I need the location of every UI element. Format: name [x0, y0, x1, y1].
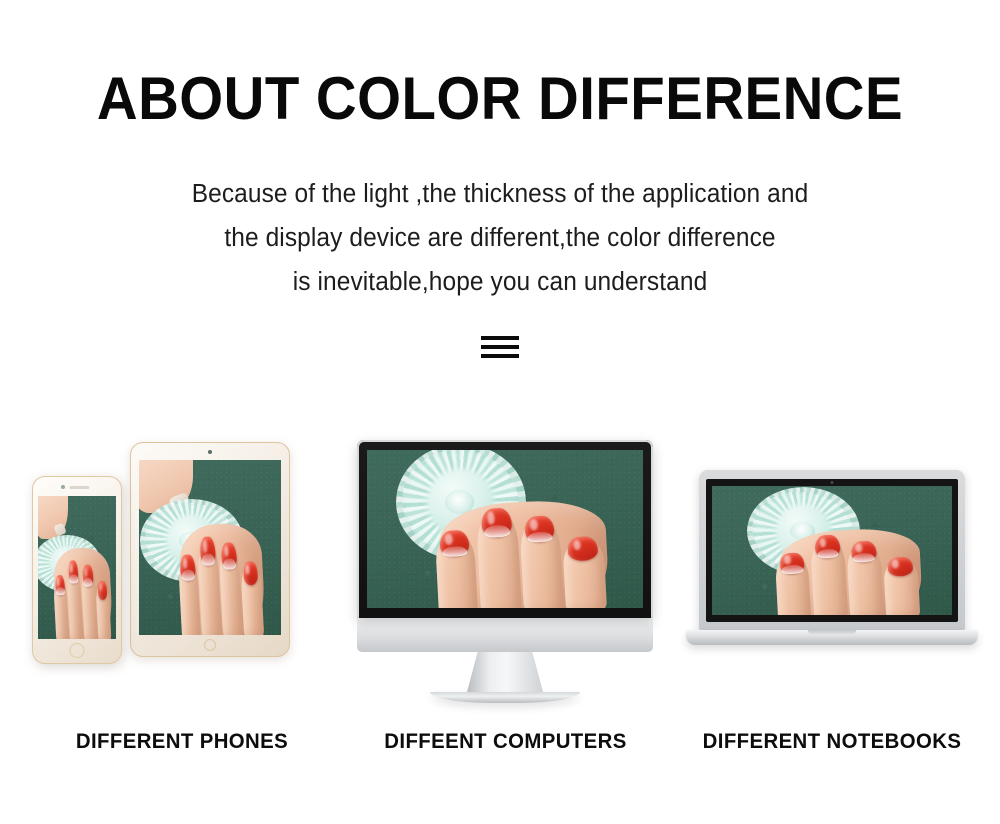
- phone-speaker-icon: [69, 486, 89, 489]
- fingernail: [68, 561, 79, 585]
- three-bars-icon: [0, 336, 1000, 358]
- fingernail: [780, 552, 805, 575]
- fingernail: [200, 536, 216, 566]
- phone-screen: [38, 496, 116, 639]
- fingernail: [815, 534, 841, 559]
- finger: [883, 559, 920, 615]
- description-line-1: Because of the light ,the thickness of t…: [20, 172, 980, 216]
- fingernail: [97, 581, 108, 601]
- laptop-base: [686, 630, 978, 645]
- divider-bar-2: [481, 345, 519, 349]
- phone-camera-icon: [61, 485, 65, 489]
- fingernail: [568, 536, 599, 562]
- product-photo: [38, 496, 116, 639]
- monitor-bezel: [357, 440, 653, 618]
- phone-home-button: [70, 643, 85, 658]
- device-group-notebooks: DIFFERENT NOTEBOOKS: [672, 430, 992, 760]
- hand: [172, 472, 269, 635]
- hand: [48, 506, 114, 639]
- fingernail: [851, 540, 877, 563]
- product-photo: [367, 450, 643, 608]
- caption-computers: DIFFEENT COMPUTERS: [353, 730, 659, 754]
- tablet-camera-icon: [208, 450, 212, 454]
- divider-bar-3: [481, 354, 519, 358]
- fingernail: [221, 542, 237, 570]
- fingernail: [482, 508, 513, 539]
- divider-bar-1: [481, 336, 519, 340]
- laptop-device: [686, 470, 978, 645]
- tablet-home-button: [204, 639, 216, 651]
- hand: [429, 450, 614, 608]
- laptop-lid: [699, 470, 965, 630]
- device-group-computers: DIFFEENT COMPUTERS: [348, 430, 663, 760]
- fingernail: [82, 565, 93, 587]
- smartphone-device: [32, 476, 122, 664]
- monitor-stand-base: [430, 692, 580, 703]
- hand: [771, 487, 926, 615]
- description-block: Because of the light ,the thickness of t…: [0, 172, 1000, 304]
- device-group-phones: DIFFERENT PHONES: [22, 430, 342, 760]
- tablet-device: [130, 442, 290, 657]
- fingernail: [524, 515, 555, 543]
- caption-notebooks: DIFFERENT NOTEBOOKS: [677, 730, 987, 754]
- fingernail: [888, 557, 914, 578]
- caption-phones: DIFFERENT PHONES: [27, 730, 337, 754]
- product-photo: [139, 460, 281, 635]
- laptop-camera-icon: [831, 481, 834, 484]
- tablet-screen: [139, 460, 281, 635]
- description-line-3: is inevitable,hope you can understand: [20, 260, 980, 304]
- monitor-chin: [357, 618, 653, 652]
- monitor-screen: [367, 450, 643, 608]
- fingernail: [55, 575, 66, 596]
- finger: [562, 538, 607, 608]
- fingernail: [440, 530, 470, 558]
- product-photo: [712, 486, 952, 615]
- laptop-bezel: [706, 479, 958, 622]
- laptop-screen: [712, 486, 952, 615]
- desktop-monitor-device: [357, 440, 653, 703]
- monitor-stand-neck: [467, 652, 543, 692]
- device-showcase-row: DIFFERENT PHONES: [0, 430, 1000, 760]
- page-title: ABOUT COLOR DIFFERENCE: [30, 68, 970, 130]
- description-line-2: the display device are different,the col…: [20, 216, 980, 260]
- color-difference-infographic: ABOUT COLOR DIFFERENCE Because of the li…: [0, 0, 1000, 824]
